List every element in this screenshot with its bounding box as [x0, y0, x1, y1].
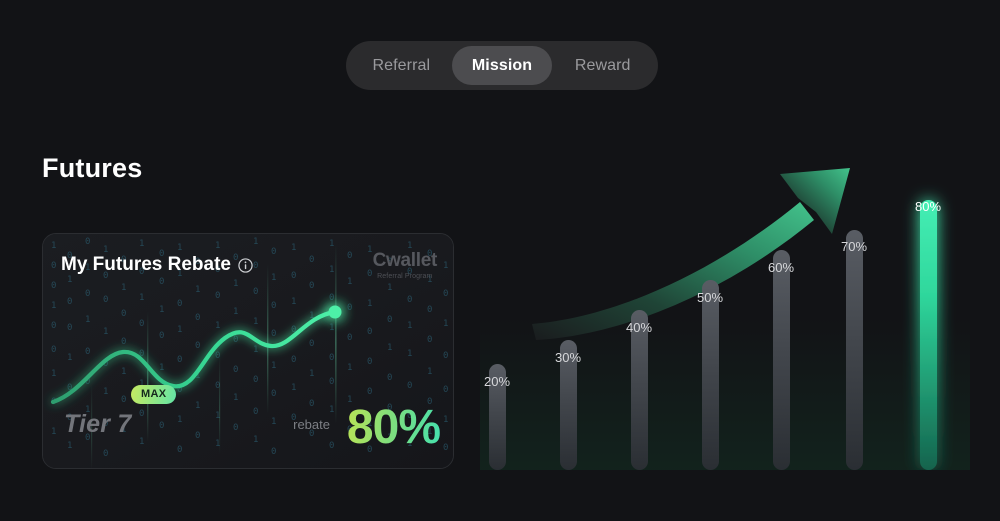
svg-text:0: 0 — [253, 261, 258, 271]
svg-text:0: 0 — [367, 327, 372, 337]
svg-text:0: 0 — [291, 271, 296, 281]
svg-text:1: 1 — [329, 239, 334, 249]
rebate-label: rebate — [293, 417, 330, 432]
svg-text:0: 0 — [233, 365, 238, 375]
trend-end-dot — [329, 306, 342, 319]
svg-text:1: 1 — [347, 363, 352, 373]
svg-text:0: 0 — [121, 309, 126, 319]
svg-text:1: 1 — [215, 321, 220, 331]
futures-rebate-card[interactable]: 100100101 01001001 01010010 10010100 010… — [42, 233, 454, 469]
svg-text:0: 0 — [309, 339, 314, 349]
svg-text:1: 1 — [387, 283, 392, 293]
svg-text:1: 1 — [443, 319, 448, 329]
svg-text:0: 0 — [347, 333, 352, 343]
tier-label: Tier 7 — [64, 410, 131, 439]
card-title-row: My Futures Rebate — [61, 254, 253, 276]
svg-text:1: 1 — [407, 349, 412, 359]
svg-text:0: 0 — [253, 407, 258, 417]
svg-text:0: 0 — [271, 447, 276, 457]
bar-value-tier-4: 50% — [697, 290, 723, 305]
svg-text:1: 1 — [347, 277, 352, 287]
svg-text:0: 0 — [367, 357, 372, 367]
svg-text:0: 0 — [195, 431, 200, 441]
svg-text:0: 0 — [443, 289, 448, 299]
svg-text:0: 0 — [329, 441, 334, 451]
bar-tier-7-highlight[interactable] — [920, 200, 937, 470]
svg-text:1: 1 — [51, 241, 56, 251]
svg-text:0: 0 — [427, 335, 432, 345]
svg-text:0: 0 — [121, 395, 126, 405]
svg-text:0: 0 — [253, 375, 258, 385]
svg-text:0: 0 — [329, 353, 334, 363]
svg-text:0: 0 — [443, 443, 448, 453]
svg-text:0: 0 — [271, 247, 276, 257]
bar-value-tier-5: 60% — [768, 260, 794, 275]
svg-text:0: 0 — [85, 289, 90, 299]
svg-text:0: 0 — [51, 321, 56, 331]
tier-rebate-bar-chart: 20% 30% 40% 50% 60% 70% 80% — [480, 168, 980, 470]
svg-text:1: 1 — [51, 369, 56, 379]
svg-text:1: 1 — [329, 323, 334, 333]
svg-text:0: 0 — [347, 251, 352, 261]
svg-text:0: 0 — [443, 351, 448, 361]
svg-text:0: 0 — [67, 297, 72, 307]
svg-text:0: 0 — [177, 355, 182, 365]
svg-text:1: 1 — [51, 301, 56, 311]
svg-text:1: 1 — [139, 293, 144, 303]
svg-text:0: 0 — [139, 319, 144, 329]
svg-text:0: 0 — [195, 341, 200, 351]
svg-text:1: 1 — [195, 401, 200, 411]
svg-text:0: 0 — [309, 281, 314, 291]
svg-text:1: 1 — [233, 307, 238, 317]
svg-text:1: 1 — [253, 435, 258, 445]
tab-switcher: Referral Mission Reward — [346, 41, 658, 90]
svg-text:1: 1 — [291, 383, 296, 393]
svg-text:1: 1 — [159, 363, 164, 373]
page-root: Referral Mission Reward Futures — [0, 0, 1000, 521]
svg-text:0: 0 — [51, 345, 56, 355]
svg-text:1: 1 — [233, 393, 238, 403]
svg-text:0: 0 — [159, 421, 164, 431]
svg-text:1: 1 — [139, 437, 144, 447]
svg-text:1: 1 — [233, 279, 238, 289]
svg-text:1: 1 — [407, 321, 412, 331]
bar-tier-4[interactable] — [702, 280, 719, 470]
svg-text:0: 0 — [253, 287, 258, 297]
svg-text:1: 1 — [443, 261, 448, 271]
max-badge: MAX — [131, 385, 176, 404]
svg-text:1: 1 — [367, 299, 372, 309]
trend-arrow-icon — [532, 168, 850, 340]
svg-text:0: 0 — [51, 261, 56, 271]
svg-text:1: 1 — [121, 367, 126, 377]
svg-text:1: 1 — [195, 285, 200, 295]
svg-text:0: 0 — [427, 305, 432, 315]
svg-text:0: 0 — [177, 299, 182, 309]
svg-text:1: 1 — [67, 275, 72, 285]
svg-text:1: 1 — [329, 405, 334, 415]
svg-text:0: 0 — [407, 381, 412, 391]
svg-text:0: 0 — [347, 303, 352, 313]
svg-text:1: 1 — [215, 241, 220, 251]
svg-text:1: 1 — [253, 237, 258, 247]
bar-value-tier-7: 80% — [915, 199, 941, 214]
svg-text:0: 0 — [51, 281, 56, 291]
svg-text:0: 0 — [121, 337, 126, 347]
svg-text:0: 0 — [233, 335, 238, 345]
svg-text:0: 0 — [85, 237, 90, 247]
svg-text:1: 1 — [67, 441, 72, 451]
svg-text:0: 0 — [329, 293, 334, 303]
svg-text:1: 1 — [291, 297, 296, 307]
svg-text:0: 0 — [159, 331, 164, 341]
svg-text:0: 0 — [407, 295, 412, 305]
tab-reward[interactable]: Reward — [552, 46, 653, 85]
svg-text:1: 1 — [139, 239, 144, 249]
tab-mission[interactable]: Mission — [452, 46, 553, 85]
svg-text:1: 1 — [159, 305, 164, 315]
tab-referral[interactable]: Referral — [351, 46, 452, 85]
brand-logo: Cwallet Referral Program — [373, 251, 437, 280]
svg-text:1: 1 — [443, 415, 448, 425]
bar-value-tier-3: 40% — [626, 320, 652, 335]
bar-value-tier-1: 20% — [484, 374, 510, 389]
svg-text:0: 0 — [85, 347, 90, 357]
svg-text:1: 1 — [291, 243, 296, 253]
svg-text:1: 1 — [271, 417, 276, 427]
svg-text:1: 1 — [85, 315, 90, 325]
svg-text:1: 1 — [177, 325, 182, 335]
bar-tier-5[interactable] — [773, 250, 790, 470]
svg-text:1: 1 — [387, 343, 392, 353]
svg-text:1: 1 — [329, 265, 334, 275]
svg-text:0: 0 — [271, 329, 276, 339]
svg-text:0: 0 — [329, 377, 334, 387]
svg-text:1: 1 — [253, 317, 258, 327]
bar-tier-6[interactable] — [846, 230, 863, 470]
svg-text:1: 1 — [51, 427, 56, 437]
svg-text:0: 0 — [291, 355, 296, 365]
svg-text:0: 0 — [309, 255, 314, 265]
svg-text:0: 0 — [195, 313, 200, 323]
svg-text:1: 1 — [67, 353, 72, 363]
svg-text:1: 1 — [177, 243, 182, 253]
floor-glow — [480, 318, 970, 470]
svg-text:1: 1 — [309, 369, 314, 379]
svg-text:0: 0 — [271, 389, 276, 399]
bar-chart-svg — [480, 168, 980, 470]
svg-text:0: 0 — [271, 301, 276, 311]
svg-text:0: 0 — [177, 445, 182, 455]
svg-text:1: 1 — [103, 327, 108, 337]
svg-text:1: 1 — [427, 367, 432, 377]
svg-text:0: 0 — [387, 315, 392, 325]
bar-value-tier-2: 30% — [555, 350, 581, 365]
svg-text:0: 0 — [159, 277, 164, 287]
svg-text:1: 1 — [103, 387, 108, 397]
svg-text:0: 0 — [215, 291, 220, 301]
card-title: My Futures Rebate — [61, 254, 231, 276]
svg-text:0: 0 — [67, 323, 72, 333]
page-title: Futures — [42, 153, 142, 184]
rebate-value: 80% — [347, 400, 440, 455]
svg-text:0: 0 — [103, 449, 108, 459]
brand-name: Cwallet — [373, 251, 437, 270]
svg-text:1: 1 — [121, 283, 126, 293]
bar-value-tier-6: 70% — [841, 239, 867, 254]
svg-text:1: 1 — [177, 415, 182, 425]
svg-text:0: 0 — [139, 409, 144, 419]
svg-text:0: 0 — [367, 387, 372, 397]
info-icon[interactable] — [238, 258, 253, 273]
svg-text:1: 1 — [271, 273, 276, 283]
brand-subtitle: Referral Program — [373, 273, 437, 280]
svg-text:0: 0 — [443, 385, 448, 395]
svg-text:1: 1 — [271, 361, 276, 371]
svg-text:0: 0 — [387, 373, 392, 383]
svg-text:0: 0 — [103, 295, 108, 305]
svg-text:0: 0 — [233, 423, 238, 433]
svg-text:0: 0 — [309, 399, 314, 409]
svg-text:1: 1 — [253, 345, 258, 355]
